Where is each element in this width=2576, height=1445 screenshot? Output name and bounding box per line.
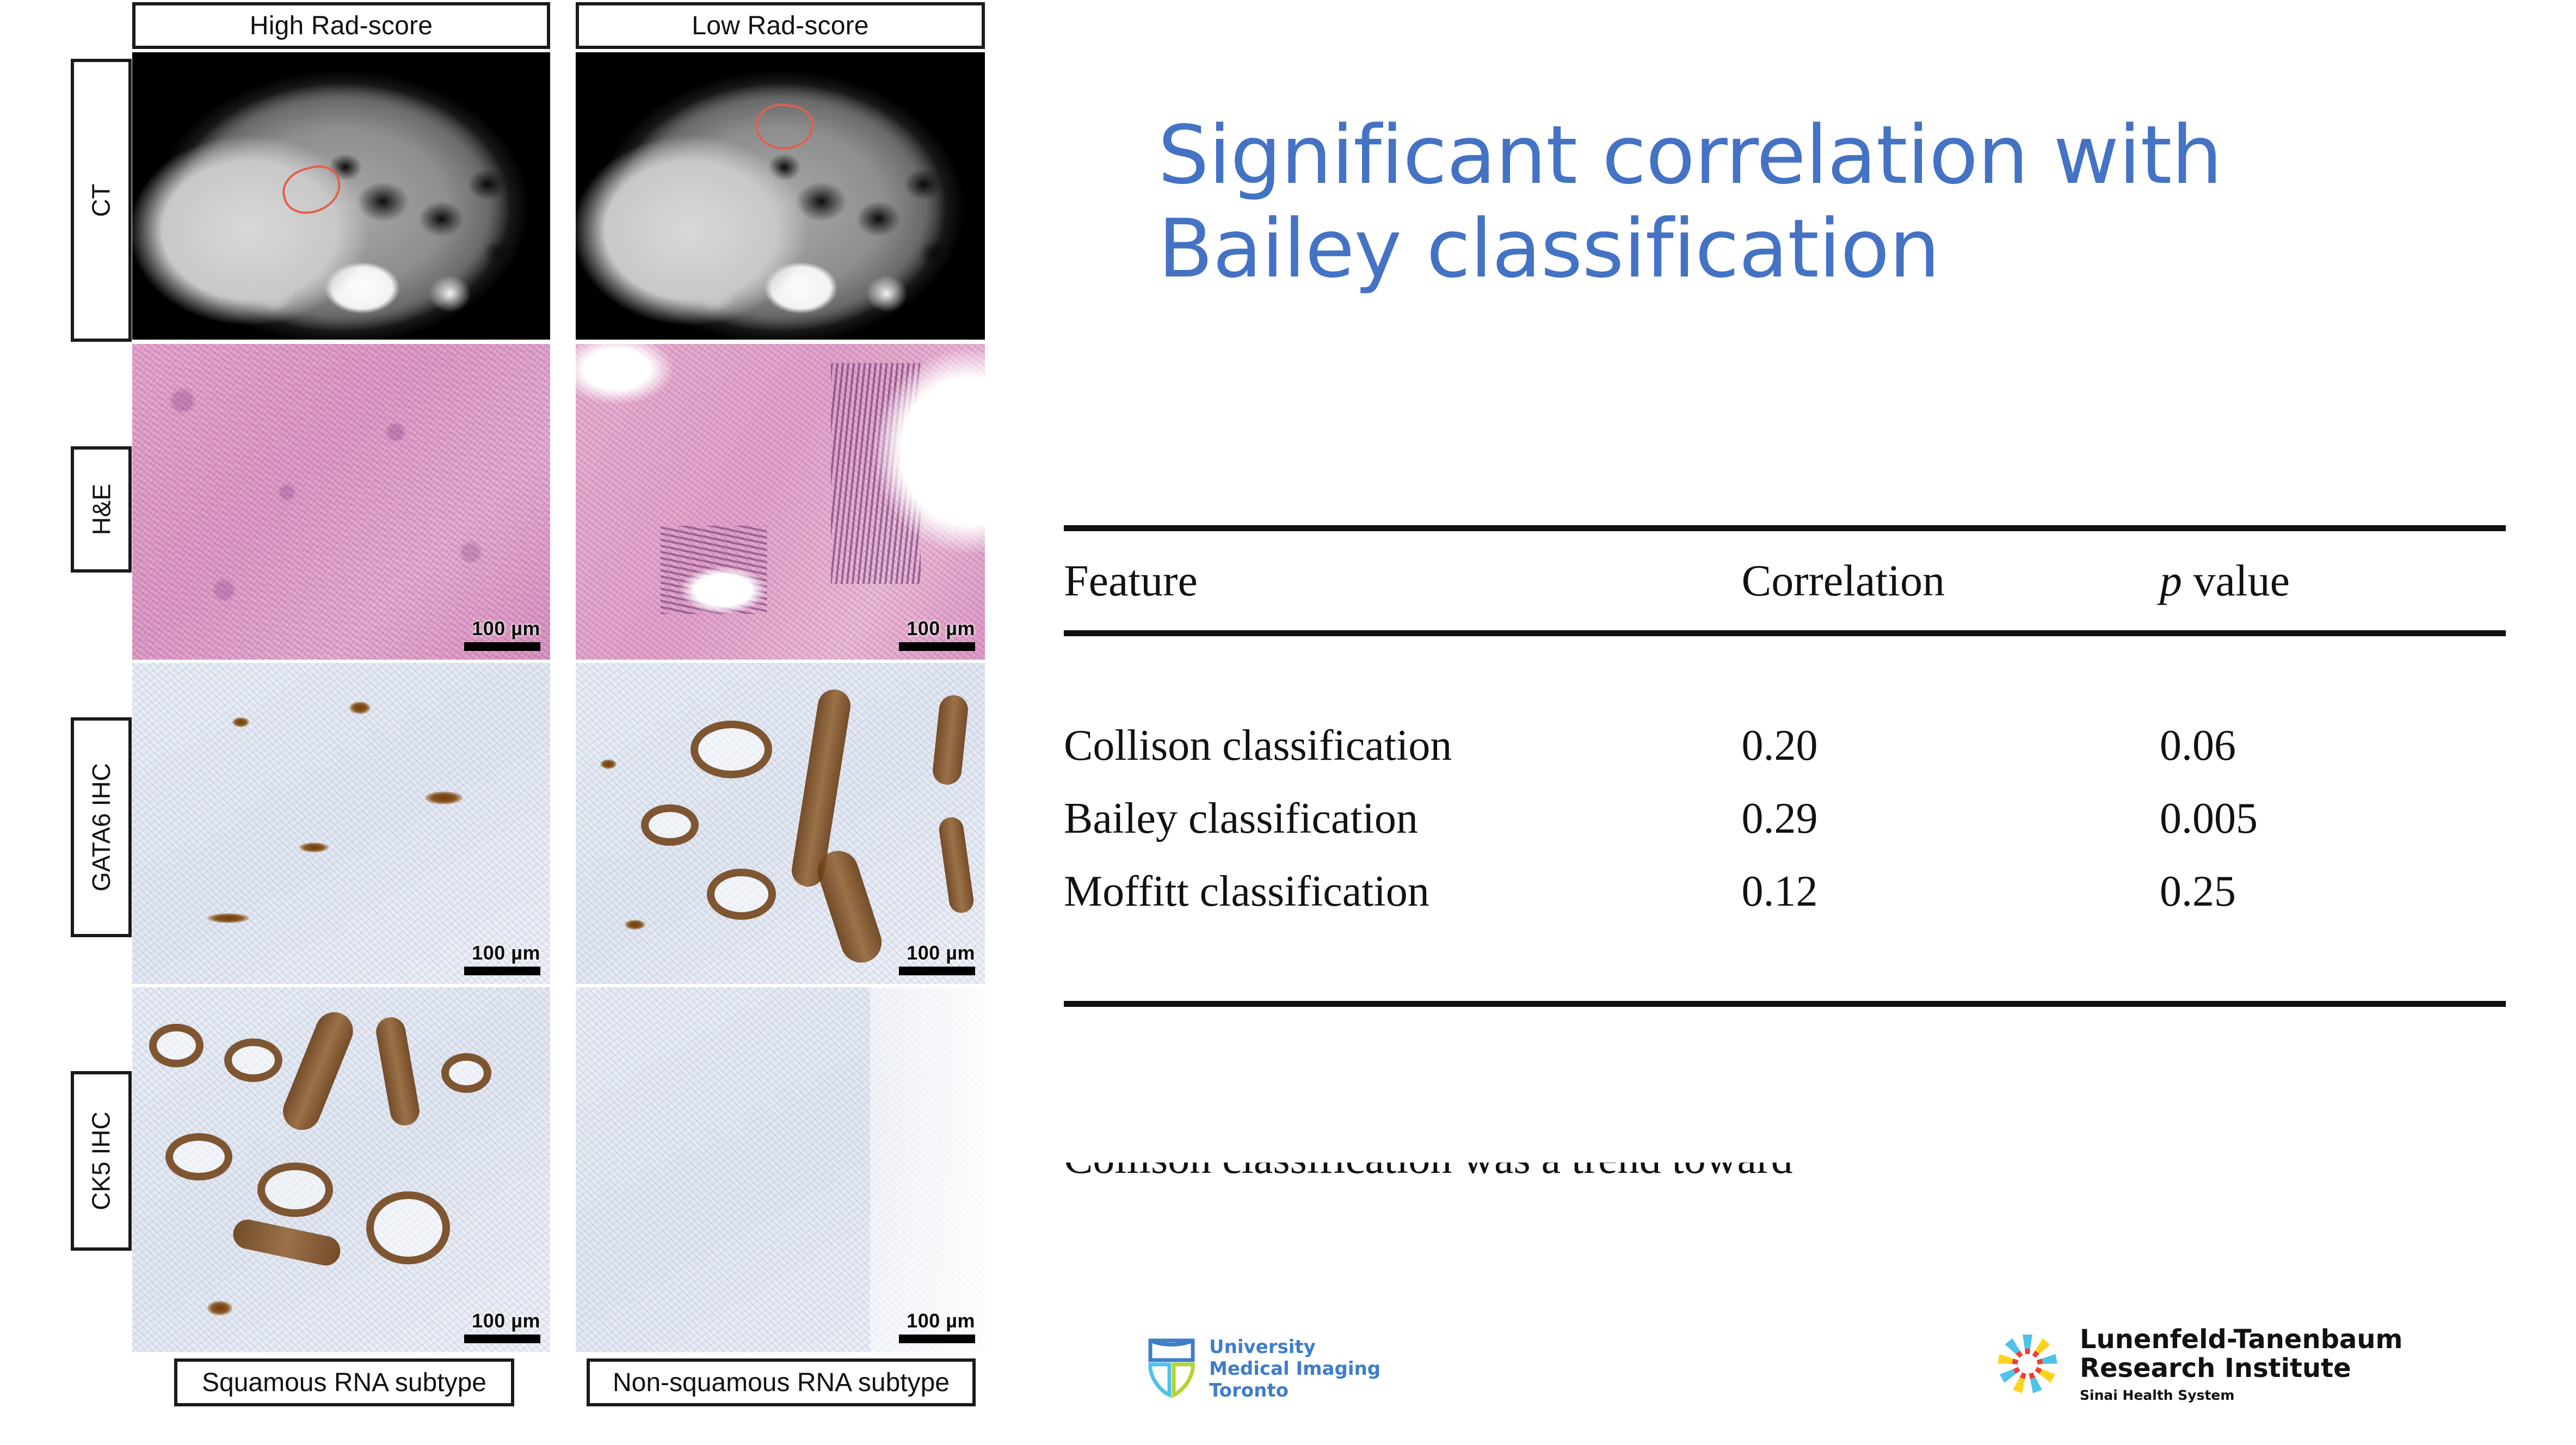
table-row: Collison classification 0.20 0.06	[1064, 709, 2506, 782]
scale-bar: 100 µm	[464, 942, 540, 975]
correlation-table-body: Collison classification 0.20 0.06 Bailey…	[1064, 636, 2506, 1001]
image-gata6-ihc-high-rad-score: 100 µm	[132, 663, 550, 984]
correlation-table-grid: Feature Correlation p value	[1064, 531, 2506, 630]
table-row: Moffitt classification 0.12 0.25	[1064, 855, 2506, 928]
table-header-row: Feature Correlation p value	[1064, 531, 2506, 630]
table-rule-top	[1064, 525, 2506, 531]
page-title: Significant correlation with Bailey clas…	[1158, 109, 2491, 296]
footnote-truncated: Collison classification was a trend towa…	[1064, 1163, 2261, 1186]
cell-p-value-collison: 0.06	[2160, 709, 2506, 782]
row-label-ct: CT	[71, 59, 132, 342]
image-he-low-rad-score: 100 µm	[576, 344, 985, 660]
image-ct-high-rad-score	[132, 52, 550, 340]
dab-stain-icon	[349, 702, 370, 715]
scale-bar-line-icon	[464, 1335, 540, 1343]
umi-logo-line-1: University	[1209, 1336, 1381, 1358]
column-header-low-rad-score: Low Rad-score	[576, 2, 985, 49]
umi-logo-line-2: Medical Imaging	[1209, 1358, 1381, 1380]
row-label-gata6-ihc-text: GATA6 IHC	[87, 763, 116, 891]
scale-bar: 100 µm	[899, 1309, 975, 1343]
column-footer-squamous-rna-subtype: Squamous RNA subtype	[174, 1358, 514, 1406]
image-ct-low-rad-score	[576, 52, 985, 340]
scale-bar: 100 µm	[464, 617, 540, 651]
scale-bar-label: 100 µm	[464, 942, 540, 964]
dab-stain-icon	[232, 717, 249, 727]
figure-panel: High Rad-score Low Rad-score CT H&E GATA…	[0, 0, 1023, 1445]
dab-gland-icon	[257, 1163, 332, 1218]
scale-bar-label: 100 µm	[899, 942, 975, 964]
scale-bar-line-icon	[899, 967, 975, 975]
cell-p-value-moffitt: 0.25	[2160, 855, 2506, 928]
slide-canvas: High Rad-score Low Rad-score CT H&E GATA…	[0, 0, 2576, 1445]
table-row: Bailey classification 0.29 0.005	[1064, 782, 2506, 855]
dab-gland-icon	[149, 1024, 204, 1067]
scale-bar-label: 100 µm	[464, 617, 540, 640]
cell-correlation-moffitt: 0.12	[1742, 855, 2160, 928]
dab-epithelium-icon	[231, 1217, 343, 1268]
footnote-text: Collison classification was a trend towa…	[1064, 1163, 2261, 1184]
row-label-ck5-ihc: CK5 IHC	[71, 1071, 132, 1251]
column-footer-non-squamous-rna-subtype: Non-squamous RNA subtype	[587, 1358, 976, 1406]
scale-bar-line-icon	[899, 1335, 975, 1343]
scale-bar-line-icon	[899, 642, 975, 651]
shield-icon	[1148, 1338, 1195, 1399]
scale-bar: 100 µm	[899, 942, 975, 975]
table-header-feature: Feature	[1064, 531, 1742, 630]
dab-gland-icon	[691, 721, 772, 778]
ltri-logo-text: Lunenfeld-Tanenbaum Research Institute S…	[2080, 1325, 2403, 1403]
image-gata6-ihc-low-rad-score: 100 µm	[576, 663, 985, 984]
table-rule-middle	[1064, 630, 2506, 636]
dab-gland-icon	[641, 804, 698, 846]
scale-bar-label: 100 µm	[464, 1309, 540, 1332]
column-header-low-rad-score-label: Low Rad-score	[692, 11, 868, 41]
dab-epithelium-icon	[938, 816, 975, 915]
scale-bar-line-icon	[464, 967, 540, 975]
cell-feature-moffitt: Moffitt classification	[1064, 855, 1742, 928]
logo-university-medical-imaging-toronto: University Medical Imaging Toronto	[1148, 1336, 1381, 1401]
row-label-gata6-ihc: GATA6 IHC	[71, 717, 132, 937]
table-spacer-row	[1064, 928, 2506, 1001]
dab-gland-icon	[707, 869, 777, 920]
logo-lunenfeld-tanenbaum-research-institute: Lunenfeld-Tanenbaum Research Institute S…	[1992, 1325, 2403, 1403]
row-label-ct-text: CT	[87, 183, 116, 217]
dab-stain-icon	[625, 920, 645, 930]
ltri-logo-line-2: Research Institute	[2080, 1354, 2403, 1383]
roi-contour-icon	[278, 161, 346, 219]
table-spacer-row	[1064, 636, 2506, 709]
table-header-p-symbol: p	[2160, 556, 2182, 605]
cell-feature-bailey: Bailey classification	[1064, 782, 1742, 855]
cell-feature-collison: Collison classification	[1064, 709, 1742, 782]
table-header-p-value: p value	[2160, 531, 2506, 630]
ltri-logo-subtitle: Sinai Health System	[2080, 1387, 2403, 1403]
slide-title: Significant correlation with Bailey clas…	[1158, 109, 2491, 296]
column-footer-non-squamous-label: Non-squamous RNA subtype	[613, 1368, 950, 1398]
dab-epithelium-icon	[278, 1007, 359, 1136]
column-header-high-rad-score-label: High Rad-score	[250, 11, 433, 41]
dab-stain-icon	[207, 913, 249, 923]
page-title-line-1: Significant correlation with	[1158, 108, 2222, 202]
cell-correlation-collison: 0.20	[1742, 709, 2160, 782]
dab-stain-icon	[425, 791, 463, 804]
scale-bar-line-icon	[464, 642, 540, 651]
cell-p-value-bailey: 0.005	[2160, 782, 2506, 855]
dab-gland-icon	[224, 1038, 283, 1082]
dab-stain-icon	[299, 843, 329, 852]
table-header-p-word: value	[2182, 556, 2290, 605]
scale-bar-label: 100 µm	[899, 1309, 975, 1332]
correlation-table: Feature Correlation p value Collison cla…	[1064, 525, 2506, 1007]
dab-stain-icon	[600, 759, 617, 769]
image-ck5-ihc-high-rad-score: 100 µm	[132, 987, 550, 1352]
column-header-high-rad-score: High Rad-score	[132, 2, 550, 49]
row-label-he-text: H&E	[87, 484, 116, 536]
roi-contour-icon	[753, 100, 816, 153]
row-label-ck5-ihc-text: CK5 IHC	[87, 1111, 116, 1210]
column-footer-squamous-label: Squamous RNA subtype	[202, 1368, 486, 1398]
umi-logo-text: University Medical Imaging Toronto	[1209, 1336, 1381, 1401]
table-rule-bottom	[1064, 1001, 2506, 1007]
umi-logo-line-3: Toronto	[1209, 1380, 1381, 1401]
dab-gland-icon	[165, 1133, 232, 1180]
dab-epithelium-icon	[374, 1014, 422, 1127]
image-ck5-ihc-low-rad-score: 100 µm	[576, 987, 985, 1352]
dab-epithelium-icon	[931, 694, 969, 786]
row-label-he: H&E	[71, 446, 132, 573]
image-he-high-rad-score: 100 µm	[132, 344, 550, 660]
tissue-edge	[870, 987, 985, 1352]
cell-correlation-bailey: 0.29	[1742, 782, 2160, 855]
dab-stain-icon	[207, 1301, 232, 1315]
scale-bar: 100 µm	[464, 1309, 540, 1343]
scale-bar: 100 µm	[899, 617, 975, 651]
table-header-correlation: Correlation	[1742, 531, 2160, 630]
burst-icon	[1992, 1328, 2063, 1400]
ltri-logo-line-1: Lunenfeld-Tanenbaum	[2080, 1325, 2403, 1354]
page-title-line-2: Bailey classification	[1158, 202, 1939, 296]
scale-bar-label: 100 µm	[899, 617, 975, 640]
dab-gland-icon	[366, 1191, 450, 1264]
dab-gland-icon	[441, 1053, 491, 1093]
dab-epithelium-icon	[812, 846, 887, 968]
